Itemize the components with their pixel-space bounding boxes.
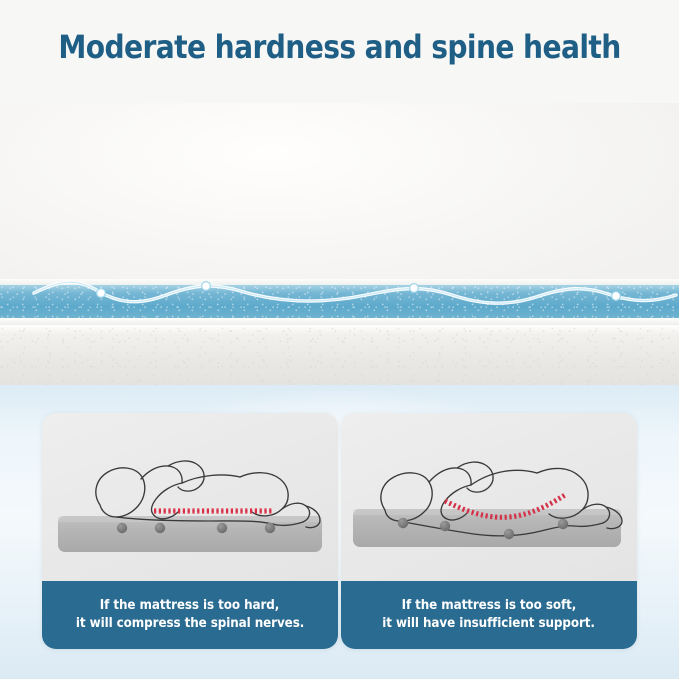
card-too-soft: If the mattress is too soft, it will hav… bbox=[341, 413, 637, 649]
caption-too-hard: If the mattress is too hard, it will com… bbox=[42, 581, 338, 649]
caption-line-2: it will compress the spinal nerves. bbox=[76, 615, 304, 633]
caption-too-soft: If the mattress is too soft, it will hav… bbox=[341, 581, 637, 649]
hero-photo bbox=[0, 103, 679, 385]
header-band: Moderate hardness and spine health bbox=[0, 0, 679, 103]
page-title: Moderate hardness and spine health bbox=[41, 28, 639, 66]
illustration-too-hard bbox=[42, 413, 338, 581]
support-wave-line bbox=[0, 103, 679, 385]
comparison-section: If the mattress is too hard, it will com… bbox=[0, 385, 679, 679]
baby-on-hard-mattress-diagram bbox=[42, 413, 338, 581]
caption-line-2: it will have insufficient support. bbox=[383, 615, 596, 633]
caption-line-1: If the mattress is too hard, bbox=[100, 597, 279, 615]
baby-on-soft-mattress-diagram bbox=[341, 413, 637, 581]
product-infographic-page: Moderate hardness and spine health bbox=[0, 0, 679, 679]
illustration-too-soft bbox=[341, 413, 637, 581]
card-too-hard: If the mattress is too hard, it will com… bbox=[42, 413, 338, 649]
caption-line-1: If the mattress is too soft, bbox=[402, 597, 577, 615]
